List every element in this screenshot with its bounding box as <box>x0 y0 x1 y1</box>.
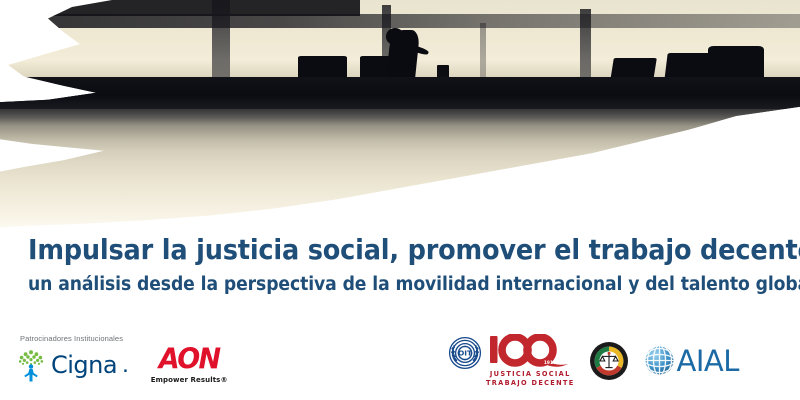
airport-lounge-photo <box>0 0 800 232</box>
oit-centenary-slogan: JUSTICIA SOCIAL TRABAJO DECENTE <box>486 370 575 387</box>
cigna-wordmark-dot: . <box>122 351 129 379</box>
floor-reflection <box>0 109 800 232</box>
aial-wordmark: AIAL <box>677 346 739 376</box>
oit-centenary-years: 1919-2019 <box>544 360 570 366</box>
ceiling-band <box>0 14 800 28</box>
event-poster: Impulsar la justicia social, promover el… <box>0 0 800 400</box>
sponsor-logo-aial[interactable]: AIAL <box>643 344 739 377</box>
window-mullion <box>212 0 230 88</box>
sponsor-logo-oit[interactable]: OIT 1919-2019 JUSTICIA SO <box>448 334 575 387</box>
hero-banner <box>0 0 800 232</box>
floor-shadow-band <box>0 77 800 109</box>
sponsor-strip: Patrocinadores Institucionales <box>0 330 800 400</box>
poster-title: Impulsar la justicia social, promover el… <box>28 232 772 268</box>
oit-centenary-100-icon: 1919-2019 <box>488 334 572 368</box>
scales-of-justice-seal-icon[interactable] <box>589 341 629 381</box>
poster-subtitle: un análisis desde la perspectiva de la m… <box>28 273 772 297</box>
cigna-tree-of-life-icon <box>16 348 46 382</box>
institutional-sponsors: Patrocinadores Institucionales <box>16 330 246 400</box>
oit-centenary-slogan-line2: TRABAJO DECENTE <box>486 379 575 387</box>
svg-text:OIT: OIT <box>458 349 472 358</box>
sponsor-logo-aon[interactable]: AON Empower Results® <box>151 346 228 384</box>
cigna-wordmark: Cigna <box>51 353 117 377</box>
partner-logos: OIT 1919-2019 JUSTICIA SO <box>448 334 739 387</box>
aon-tagline: Empower Results® <box>151 376 228 384</box>
sponsor-logo-cigna[interactable]: Cigna . <box>16 348 129 382</box>
title-block: Impulsar la justicia social, promover el… <box>0 232 800 297</box>
oit-centenary-lockup: 1919-2019 JUSTICIA SOCIAL TRABAJO DECENT… <box>486 334 575 387</box>
aon-wordmark: AON <box>159 345 220 375</box>
aial-globe-icon <box>643 344 676 377</box>
oit-laurel-wreath-icon: OIT <box>448 336 482 370</box>
oit-centenary-slogan-line1: JUSTICIA SOCIAL <box>490 370 571 378</box>
